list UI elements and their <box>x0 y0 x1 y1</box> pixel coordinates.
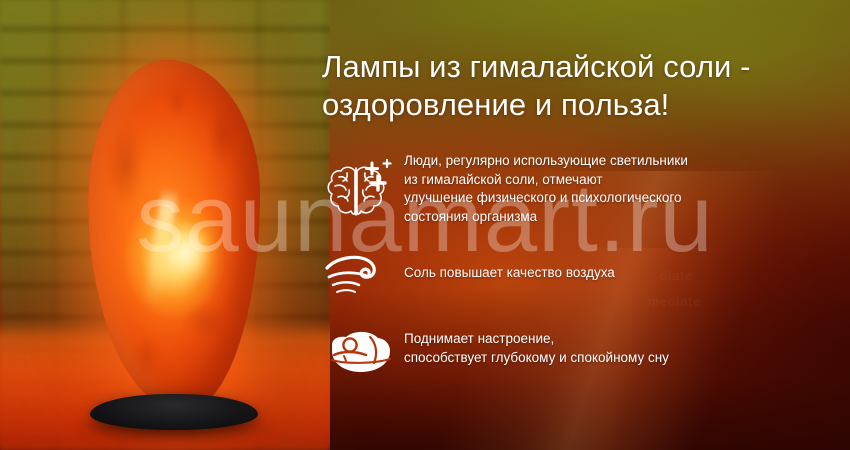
content-column: Лампы из гималайской соли - оздоровление… <box>318 0 850 450</box>
headline-line-1: Лампы из гималайской соли - <box>322 48 842 86</box>
benefit-text-wellbeing: Люди, регулярно использующие светильники… <box>404 150 688 226</box>
benefit-text-sleep: Поднимает настроение, способствует глубо… <box>404 320 669 367</box>
benefit-item-air-quality: Соль повышает качество воздуха <box>318 246 850 304</box>
benefit-item-sleep: Поднимает настроение, способствует глубо… <box>318 320 850 382</box>
benefit-line: Поднимает настроение, <box>404 330 669 349</box>
wind-icon <box>318 246 404 304</box>
salt-lamp-inner-glow <box>164 225 210 279</box>
benefit-item-wellbeing: Люди, регулярно использующие светильники… <box>318 150 850 230</box>
benefit-line: способствует глубокому и спокойному сну <box>404 349 669 368</box>
benefit-line: Люди, регулярно использующие светильники <box>404 152 688 171</box>
headline-line-2: оздоровление и польза! <box>322 86 842 124</box>
page-title: Лампы из гималайской соли - оздоровление… <box>322 48 842 124</box>
benefits-list: Люди, регулярно использующие светильники… <box>318 150 850 398</box>
brain-icon <box>318 150 404 230</box>
sleeping-person-icon <box>318 320 404 382</box>
benefit-text-air-quality: Соль повышает качество воздуха <box>404 246 615 283</box>
promo-banner: Лампы из гималайской соли - оздоровление… <box>0 0 850 450</box>
benefit-line: из гималайской соли, отмечают <box>404 171 688 190</box>
benefit-line: состояния организма <box>404 208 688 227</box>
benefit-line: Соль повышает качество воздуха <box>404 264 615 283</box>
benefit-line: улучшение физического и психологического <box>404 189 688 208</box>
